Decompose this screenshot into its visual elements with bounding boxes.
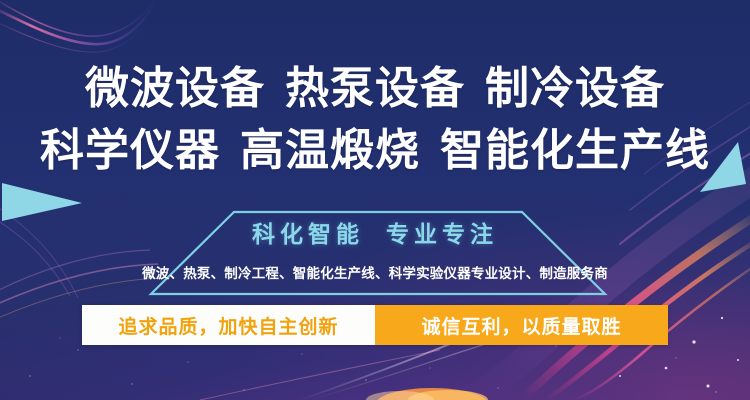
subheadline-phrase-2: 专业专注 bbox=[386, 221, 498, 247]
headline-line2-part3: 智能化生产线 bbox=[440, 126, 710, 175]
headline-line-2: 科学仪器高温煅烧智能化生产线 bbox=[0, 120, 750, 182]
promo-banner: 微波设备热泵设备制冷设备 科学仪器高温煅烧智能化生产线 科化智能专业专注 微波、… bbox=[0, 0, 750, 400]
slogan-right-panel: 诚信互利，以质量取胜 bbox=[375, 305, 668, 345]
headline-line1-part2: 热泵设备 bbox=[285, 64, 465, 113]
subheadline-description: 微波、热泵、制冷工程、智能化生产线、科学实验仪器专业设计、制造服务商 bbox=[0, 264, 750, 284]
headline-line2-part1: 科学仪器 bbox=[40, 126, 220, 175]
slogan-left-panel: 追求品质，加快自主创新 bbox=[82, 305, 375, 345]
headline-block: 微波设备热泵设备制冷设备 科学仪器高温煅烧智能化生产线 bbox=[0, 58, 750, 182]
headline-line2-part2: 高温煅烧 bbox=[240, 126, 420, 175]
headline-line1-part1: 微波设备 bbox=[85, 64, 265, 113]
headline-line1-part3: 制冷设备 bbox=[485, 64, 665, 113]
subheadline-phrase-1: 科化智能 bbox=[252, 221, 364, 247]
headline-line-1: 微波设备热泵设备制冷设备 bbox=[0, 58, 750, 120]
subheadline: 科化智能专业专注 bbox=[0, 219, 750, 249]
slogan-bar: 追求品质，加快自主创新 诚信互利，以质量取胜 bbox=[82, 305, 668, 345]
